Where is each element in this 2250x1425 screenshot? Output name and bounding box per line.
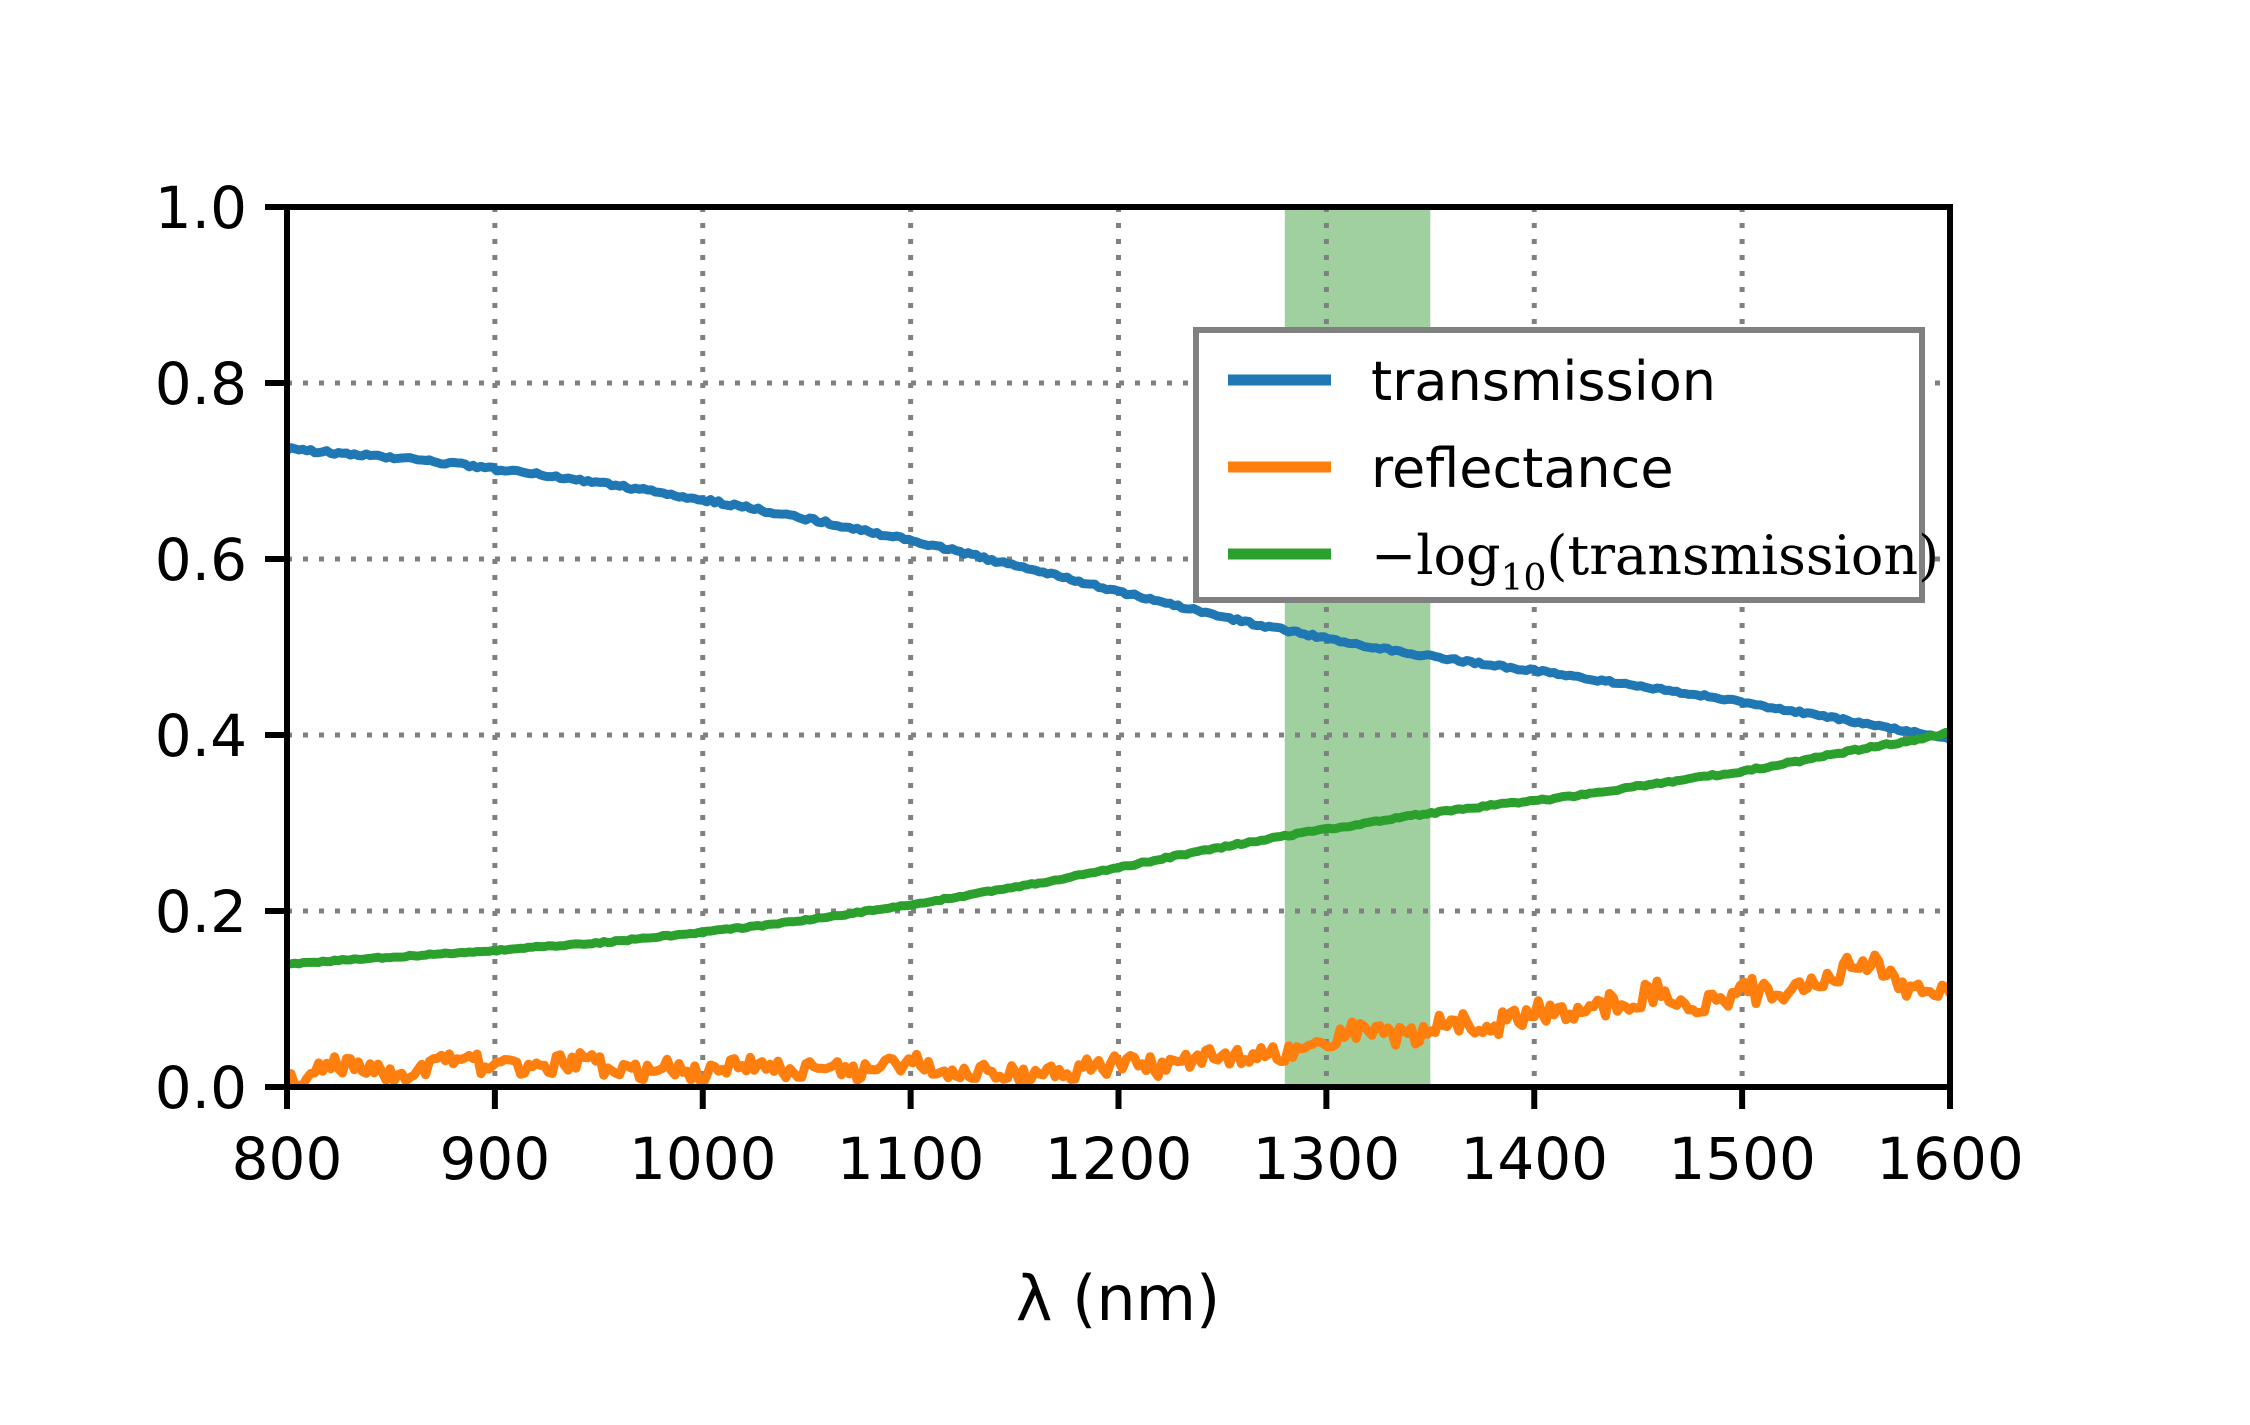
y-tick-label: 0.2	[155, 878, 247, 946]
x-tick-label: 1600	[1876, 1125, 2024, 1193]
legend-label-1: reflectance	[1371, 437, 1674, 500]
x-tick-label: 900	[440, 1125, 551, 1193]
x-tick-label: 1100	[837, 1125, 985, 1193]
x-tick-label: 1200	[1045, 1125, 1193, 1193]
chart-legend[interactable]: transmissionreflectance−log10(transmissi…	[1196, 330, 1939, 600]
chart-plot: 8009001000110012001300140015001600 0.00.…	[0, 0, 2250, 1425]
x-tick-label: 800	[232, 1125, 343, 1193]
x-tick-label: 1300	[1253, 1125, 1401, 1193]
legend-label-0: transmission	[1371, 350, 1716, 413]
y-tick-label: 0.6	[155, 526, 247, 594]
figure-background	[0, 0, 2250, 1425]
y-tick-label: 0.4	[155, 702, 247, 770]
x-tick-label: 1000	[629, 1125, 777, 1193]
y-tick-label: 0.8	[155, 350, 247, 418]
y-tick-label: 0.0	[155, 1054, 247, 1122]
x-axis-title: λ (nm)	[1016, 1262, 1220, 1335]
y-tick-label: 1.0	[155, 174, 247, 242]
x-tick-label: 1400	[1460, 1125, 1608, 1193]
figure-canvas: 8009001000110012001300140015001600 0.00.…	[0, 0, 2250, 1425]
x-tick-label: 1500	[1668, 1125, 1816, 1193]
